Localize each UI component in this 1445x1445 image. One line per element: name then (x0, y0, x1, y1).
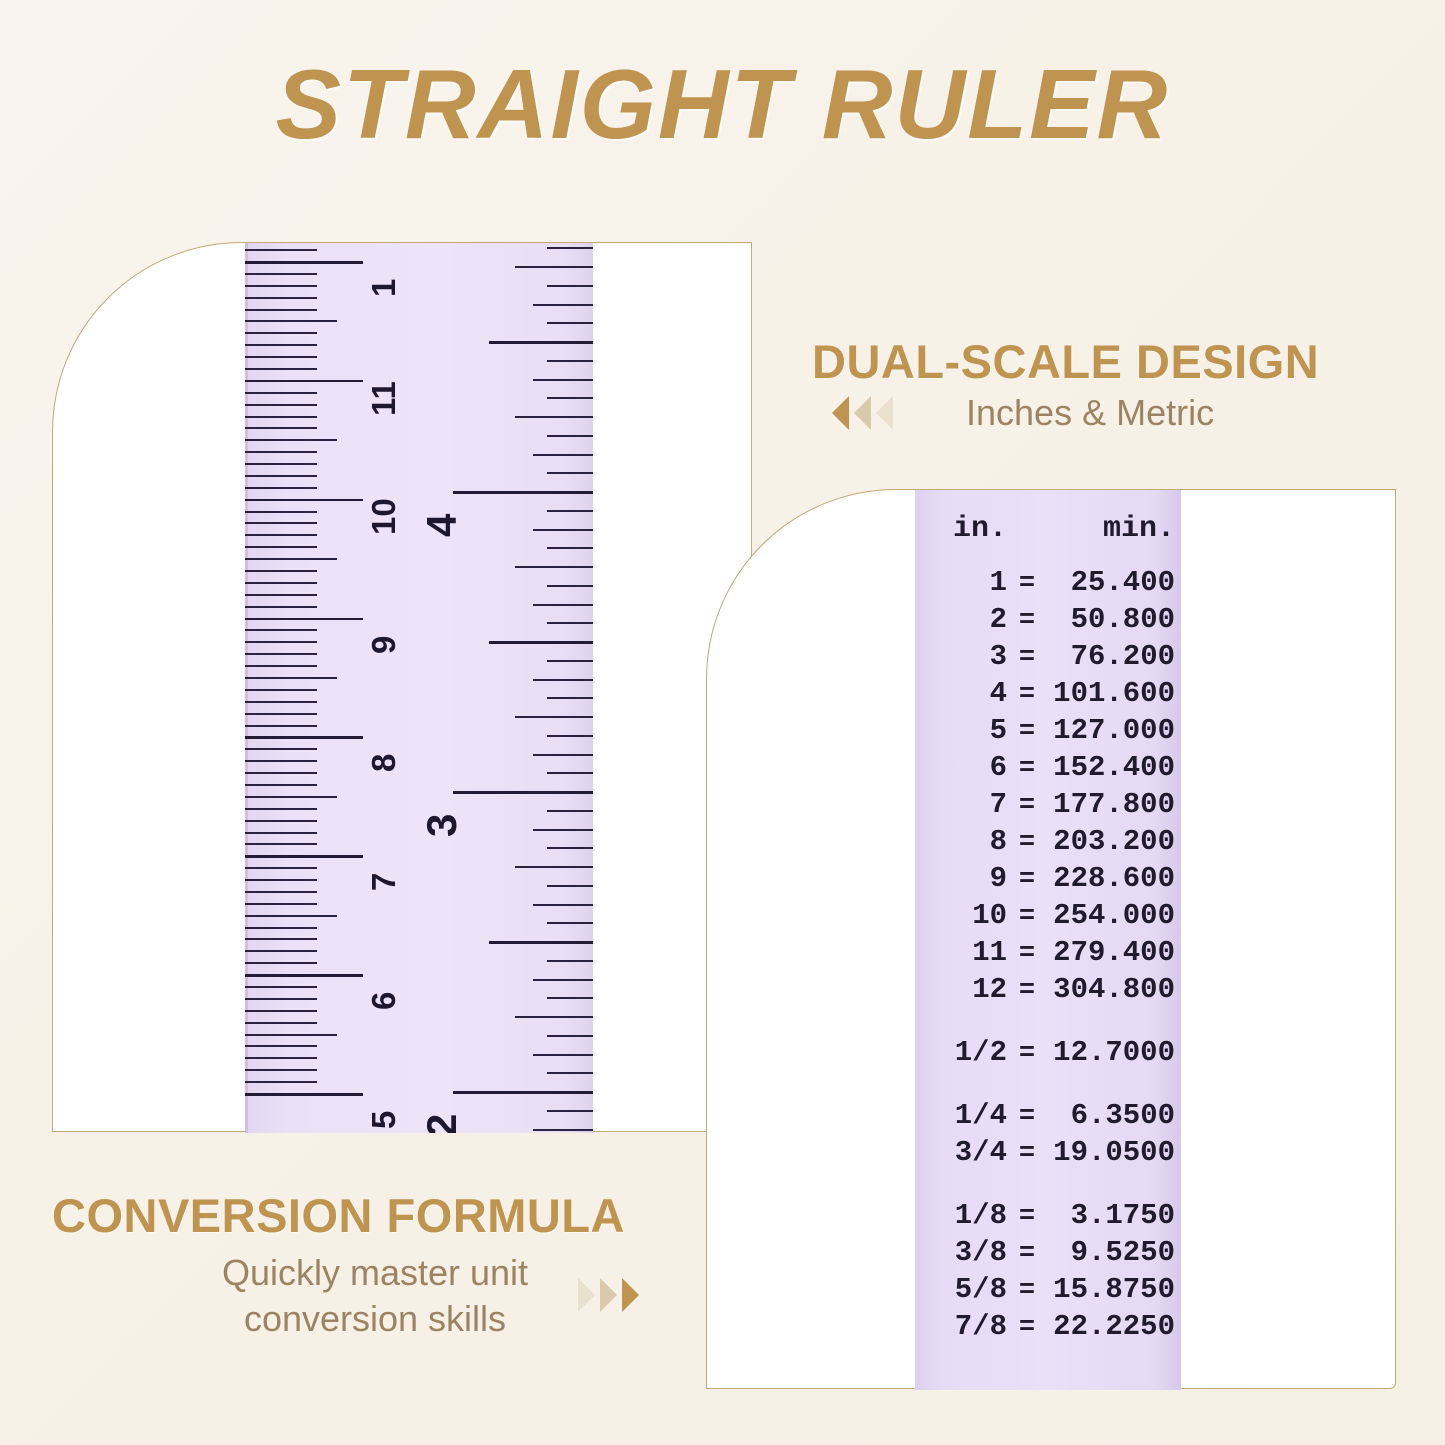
tick-mark (245, 784, 317, 786)
tick-mark (245, 665, 317, 667)
tick-mark (245, 998, 317, 1000)
tick-mark (245, 713, 317, 715)
dual-scale-chevrons (832, 396, 893, 430)
cell-equals: = (1007, 569, 1047, 599)
page-title: STRAIGHT RULER (0, 48, 1445, 161)
tick-mark (515, 866, 593, 868)
tick-mark (547, 435, 593, 437)
conversion-formula-title: CONVERSION FORMULA (52, 1188, 625, 1243)
cell-millimeters: 152.400 (1047, 751, 1181, 784)
tick-mark (245, 344, 317, 346)
tick-mark (489, 341, 593, 344)
tick-mark (245, 1034, 337, 1036)
cell-millimeters: 254.000 (1047, 899, 1181, 932)
tick-mark (245, 820, 317, 822)
tick-mark (245, 927, 317, 929)
tick-mark (245, 439, 337, 441)
cell-inches: 9 (915, 862, 1007, 895)
tick-mark (245, 380, 363, 383)
chevron-right-icon (600, 1278, 617, 1312)
cell-inches: 4 (915, 677, 1007, 710)
table-row: 11=279.400 (915, 936, 1181, 973)
cell-millimeters: 50.800 (1047, 603, 1181, 636)
cell-inches: 1/2 (915, 1036, 1007, 1069)
tick-mark (245, 1045, 317, 1047)
tick-mark (533, 379, 593, 381)
tick-mark (245, 487, 317, 489)
tick-mark (245, 950, 317, 952)
cell-millimeters: 304.800 (1047, 973, 1181, 1006)
table-row: 7=177.800 (915, 788, 1181, 825)
tick-mark (245, 606, 317, 608)
tick-mark (533, 529, 593, 531)
tick-mark (547, 585, 593, 587)
tick-mark (547, 247, 593, 249)
scale-label: 11 (367, 381, 400, 416)
table-row: 8=203.200 (915, 825, 1181, 862)
tick-mark (245, 641, 317, 643)
tick-mark (547, 322, 593, 324)
conversion-table-panel: in. min. 1=25.4002=50.8003=76.2004=101.6… (706, 489, 1396, 1389)
conversion-table-body: 1=25.4002=50.8003=76.2004=101.6005=127.0… (915, 566, 1181, 1347)
tick-mark (245, 451, 317, 453)
conversion-formula-chevrons (578, 1278, 639, 1312)
tick-mark (245, 1093, 363, 1096)
tick-mark (245, 653, 317, 655)
cell-equals: = (1007, 1102, 1047, 1132)
tick-mark (245, 1057, 317, 1059)
tick-mark (245, 986, 317, 988)
tick-mark (547, 1035, 593, 1037)
table-row: 9=228.600 (915, 862, 1181, 899)
tick-mark (453, 1091, 593, 1094)
cell-millimeters: 127.000 (1047, 714, 1181, 747)
table-row: 5/8=15.8750 (915, 1273, 1181, 1310)
tick-mark (245, 368, 317, 370)
cell-equals: = (1007, 1276, 1047, 1306)
tick-mark (245, 796, 337, 798)
cell-equals: = (1007, 1139, 1047, 1169)
tick-mark (533, 604, 593, 606)
tick-mark (245, 843, 317, 845)
cell-inches: 3/4 (915, 1136, 1007, 1169)
table-row: 1/4=6.3500 (915, 1099, 1181, 1136)
tick-mark (245, 558, 337, 560)
cell-millimeters: 25.400 (1047, 566, 1181, 599)
tick-mark (547, 472, 593, 474)
header-mm: min. (1047, 512, 1181, 546)
cell-millimeters: 15.8750 (1047, 1273, 1181, 1306)
cell-inches: 10 (915, 899, 1007, 932)
tick-mark (245, 320, 337, 322)
scale-label: 1 (367, 279, 400, 297)
dual-scale-title: DUAL-SCALE DESIGN (812, 334, 1319, 389)
cell-inches: 1/8 (915, 1199, 1007, 1232)
cell-inches: 3 (915, 640, 1007, 673)
table-row: 1=25.400 (915, 566, 1181, 603)
tick-mark (533, 829, 593, 831)
tick-mark (245, 249, 317, 251)
tick-mark (245, 736, 363, 739)
cell-inches: 6 (915, 751, 1007, 784)
tick-mark (515, 566, 593, 568)
tick-mark (245, 416, 317, 418)
tick-mark (547, 960, 593, 962)
tick-mark (245, 808, 317, 810)
tick-mark (245, 689, 317, 691)
cell-inches: 5/8 (915, 1273, 1007, 1306)
tick-mark (245, 309, 317, 311)
tick-mark (245, 261, 363, 264)
table-group-gap (915, 1173, 1181, 1199)
scale-label: 2 (421, 1114, 463, 1133)
tick-mark (245, 285, 317, 287)
tick-mark (245, 1010, 317, 1012)
tick-mark (547, 1072, 593, 1074)
table-row: 3/4=19.0500 (915, 1136, 1181, 1173)
cell-equals: = (1007, 1239, 1047, 1269)
scale-label: 4 (421, 514, 463, 537)
tick-mark (533, 904, 593, 906)
tick-mark (515, 416, 593, 418)
header-inches: in. (915, 512, 1007, 546)
tick-mark (489, 941, 593, 944)
tick-mark (547, 885, 593, 887)
tick-mark (245, 475, 317, 477)
scale-label: 8 (367, 754, 400, 772)
tick-mark (245, 974, 363, 977)
tick-mark (453, 491, 593, 494)
cell-millimeters: 279.400 (1047, 936, 1181, 969)
cell-equals: = (1007, 1313, 1047, 1343)
tick-mark (533, 304, 593, 306)
conversion-table-strip: in. min. 1=25.4002=50.8003=76.2004=101.6… (915, 490, 1181, 1390)
tick-mark (245, 891, 317, 893)
tick-mark (245, 701, 317, 703)
cell-equals: = (1007, 865, 1047, 895)
cell-inches: 5 (915, 714, 1007, 747)
tick-mark (245, 404, 317, 406)
tick-mark (547, 847, 593, 849)
table-row: 3=76.200 (915, 640, 1181, 677)
table-row: 3/8=9.5250 (915, 1236, 1181, 1273)
tick-mark (515, 266, 593, 268)
tick-mark (245, 570, 317, 572)
tick-mark (245, 748, 317, 750)
tick-mark (245, 629, 317, 631)
cell-equals: = (1007, 791, 1047, 821)
scale-label: 10 (367, 498, 400, 535)
tick-mark (533, 679, 593, 681)
cell-equals: = (1007, 976, 1047, 1006)
cell-equals: = (1007, 1039, 1047, 1069)
cell-millimeters: 228.600 (1047, 862, 1181, 895)
tick-mark (245, 522, 317, 524)
tick-mark (533, 754, 593, 756)
tick-mark (245, 511, 317, 513)
tick-mark (489, 641, 593, 644)
chevron-right-icon (578, 1278, 595, 1312)
tick-mark (245, 499, 363, 502)
table-header-row: in. min. (915, 512, 1181, 566)
cell-equals: = (1007, 1202, 1047, 1232)
tick-mark (245, 356, 317, 358)
table-group-gap (915, 1010, 1181, 1036)
cell-equals: = (1007, 754, 1047, 784)
tick-mark (547, 810, 593, 812)
scale-label: 5 (367, 1111, 400, 1129)
scale-label: 7 (367, 873, 400, 891)
tick-mark (245, 915, 337, 917)
cell-millimeters: 203.200 (1047, 825, 1181, 858)
cell-millimeters: 177.800 (1047, 788, 1181, 821)
cell-inches: 11 (915, 936, 1007, 969)
chevron-left-icon (854, 396, 871, 430)
cell-equals: = (1007, 606, 1047, 636)
table-row: 5=127.000 (915, 714, 1181, 751)
tick-mark (547, 360, 593, 362)
tick-mark (245, 546, 317, 548)
scale-label: 9 (367, 635, 400, 653)
tick-mark (245, 618, 363, 621)
tick-mark (245, 879, 317, 881)
chevron-left-icon (832, 396, 849, 430)
tick-mark (547, 735, 593, 737)
cell-millimeters: 19.0500 (1047, 1136, 1181, 1169)
cell-equals: = (1007, 939, 1047, 969)
tick-mark (515, 1016, 593, 1018)
tick-mark (245, 534, 317, 536)
tick-mark (533, 979, 593, 981)
cell-inches: 1 (915, 566, 1007, 599)
cell-inches: 7/8 (915, 1310, 1007, 1343)
cell-equals: = (1007, 902, 1047, 932)
tick-mark (547, 772, 593, 774)
chevron-left-icon (876, 396, 893, 430)
tick-mark (245, 867, 317, 869)
tick-mark (245, 903, 317, 905)
table-row: 7/8=22.2250 (915, 1310, 1181, 1347)
cell-millimeters: 12.7000 (1047, 1036, 1181, 1069)
tick-mark (245, 855, 363, 858)
cell-equals: = (1007, 717, 1047, 747)
tick-mark (547, 397, 593, 399)
tick-mark (245, 582, 317, 584)
dual-scale-subtitle: Inches & Metric (966, 392, 1214, 434)
cell-inches: 2 (915, 603, 1007, 636)
tick-mark (547, 285, 593, 287)
cell-inches: 3/8 (915, 1236, 1007, 1269)
conversion-formula-subtitle: Quickly master unit conversion skills (200, 1250, 550, 1342)
tick-mark (547, 660, 593, 662)
tick-mark (547, 510, 593, 512)
cell-inches: 12 (915, 973, 1007, 1006)
table-group-gap (915, 1073, 1181, 1099)
table-row: 1/8=3.1750 (915, 1199, 1181, 1236)
cell-inches: 7 (915, 788, 1007, 821)
tick-mark (245, 1069, 317, 1071)
cell-millimeters: 6.3500 (1047, 1099, 1181, 1132)
tick-mark (245, 297, 317, 299)
tick-mark (245, 832, 317, 834)
tick-mark (245, 1022, 317, 1024)
cell-equals: = (1007, 643, 1047, 673)
tick-mark (245, 332, 317, 334)
ruler-body: 1111098765432 (245, 243, 593, 1133)
tick-mark (245, 772, 317, 774)
tick-mark (547, 697, 593, 699)
tick-mark (245, 1081, 317, 1083)
tick-mark (547, 622, 593, 624)
tick-mark (245, 463, 317, 465)
tick-mark (547, 547, 593, 549)
tick-mark (547, 922, 593, 924)
cell-millimeters: 76.200 (1047, 640, 1181, 673)
cell-millimeters: 3.1750 (1047, 1199, 1181, 1232)
table-row: 2=50.800 (915, 603, 1181, 640)
cell-equals: = (1007, 680, 1047, 710)
chevron-right-icon (622, 1278, 639, 1312)
tick-mark (547, 997, 593, 999)
tick-mark (533, 1054, 593, 1056)
tick-mark (245, 938, 317, 940)
tick-mark (547, 1110, 593, 1112)
scale-label: 6 (367, 992, 400, 1010)
cell-equals: = (1007, 828, 1047, 858)
table-row: 10=254.000 (915, 899, 1181, 936)
table-row: 1/2=12.7000 (915, 1036, 1181, 1073)
scale-label: 3 (421, 814, 463, 837)
table-row: 4=101.600 (915, 677, 1181, 714)
tick-mark (533, 454, 593, 456)
tick-mark (245, 594, 317, 596)
tick-mark (533, 1129, 593, 1131)
tick-mark (245, 273, 317, 275)
cell-millimeters: 9.5250 (1047, 1236, 1181, 1269)
ruler-image-panel: 1111098765432 (52, 242, 752, 1132)
cell-inches: 8 (915, 825, 1007, 858)
cell-inches: 1/4 (915, 1099, 1007, 1132)
cell-millimeters: 101.600 (1047, 677, 1181, 710)
tick-mark (245, 392, 317, 394)
cell-millimeters: 22.2250 (1047, 1310, 1181, 1343)
tick-mark (515, 716, 593, 718)
tick-mark (453, 791, 593, 794)
tick-mark (245, 427, 317, 429)
table-row: 6=152.400 (915, 751, 1181, 788)
tick-mark (245, 962, 317, 964)
table-row: 12=304.800 (915, 973, 1181, 1010)
conversion-table-header: in. min. (915, 512, 1181, 566)
tick-mark (245, 760, 317, 762)
tick-mark (245, 677, 337, 679)
tick-mark (245, 725, 317, 727)
